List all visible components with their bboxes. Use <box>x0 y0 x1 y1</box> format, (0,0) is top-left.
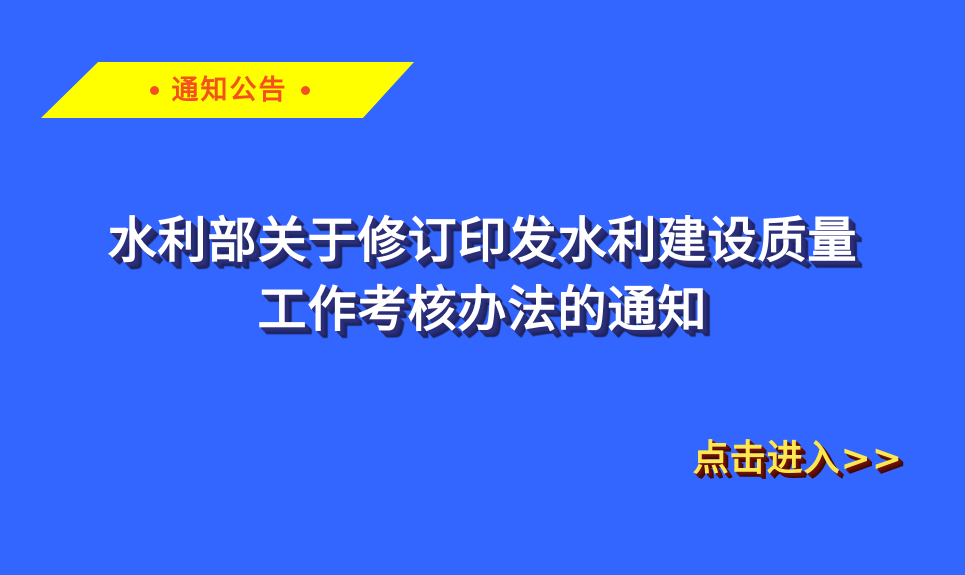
notice-tag-content: 通知公告 <box>150 77 310 104</box>
notice-category-tag: 通知公告 <box>41 62 414 118</box>
notice-banner: 通知公告 水利部关于修订印发水利建设质量 工作考核办法的通知 点击进入>> <box>0 0 965 575</box>
tag-dot-left-icon <box>150 86 159 95</box>
page-title-line-2: 工作考核办法的通知 <box>0 275 965 344</box>
page-title-line-1: 水利部关于修订印发水利建设质量 <box>0 206 965 275</box>
page-title: 水利部关于修订印发水利建设质量 工作考核办法的通知 <box>0 206 965 344</box>
tag-dot-right-icon <box>301 86 310 95</box>
enter-link[interactable]: 点击进入>> <box>693 436 903 481</box>
notice-tag-label: 通知公告 <box>172 77 288 104</box>
